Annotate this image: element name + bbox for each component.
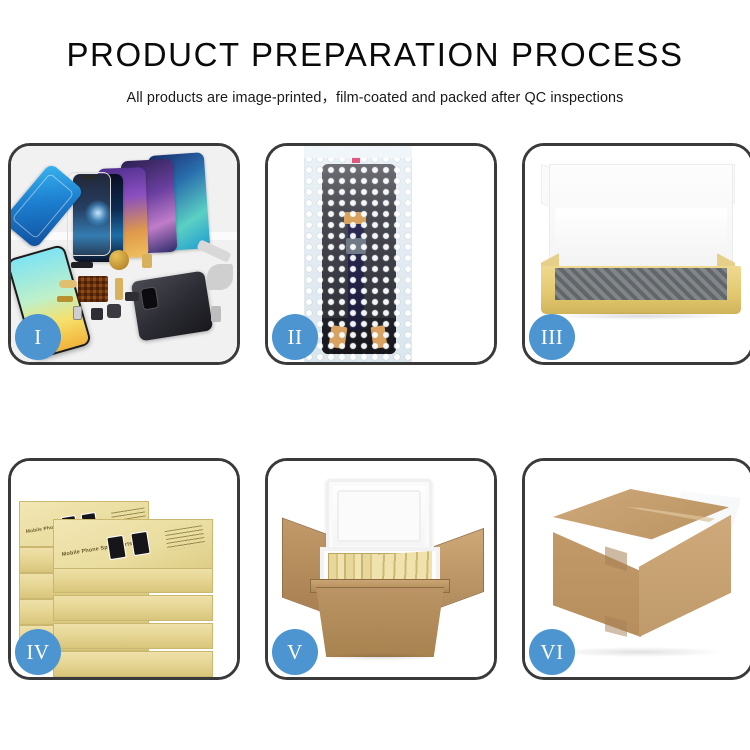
small-screw-part-icon — [73, 306, 82, 320]
step-badge-4: IV — [15, 629, 61, 675]
bubble-wrapped-contents-icon — [555, 268, 727, 300]
tweezers-icon — [196, 239, 231, 262]
box-art-screen-b1-icon — [106, 535, 126, 560]
vibration-motor-icon — [109, 250, 129, 270]
pry-tool-icon — [207, 264, 233, 290]
stacked-box-f4 — [53, 623, 213, 649]
stacked-box-f2 — [53, 567, 213, 593]
stacked-box-f3 — [53, 595, 213, 621]
bubble-wrap-bag-icon — [304, 146, 412, 362]
foam-box-lid-icon — [326, 479, 432, 553]
shipping-carton-icon — [545, 489, 737, 653]
sim-tray-icon — [125, 292, 139, 301]
bracket-part-icon — [91, 308, 103, 320]
shipping-carton-shadow — [555, 647, 723, 657]
process-step-6: VI — [522, 458, 750, 680]
step-badge-1: I — [15, 314, 61, 360]
gold-contact-icon — [57, 296, 73, 302]
product-preparation-process-page: PRODUCT PREPARATION PROCESS All products… — [0, 0, 750, 750]
logic-board-icon — [78, 276, 108, 302]
charging-flex-icon — [115, 278, 123, 300]
stacked-box-f5 — [53, 651, 213, 677]
carton-shadow — [320, 653, 440, 661]
page-header: PRODUCT PREPARATION PROCESS All products… — [0, 0, 750, 107]
process-step-5: V — [265, 458, 497, 680]
phone-back-cover-icon — [131, 271, 213, 342]
process-step-2: II — [265, 143, 497, 365]
step-badge-2: II — [272, 314, 318, 360]
stacked-box-f1-face: Mobile Phone Spare Parts — [54, 520, 212, 568]
foam-liner-icon — [555, 208, 727, 270]
process-step-grid: I — [8, 143, 742, 677]
step-badge-5: V — [272, 629, 318, 675]
process-step-4: Mobile Phone Spare Parts — [8, 458, 240, 680]
bubble-texture-icon — [305, 146, 411, 362]
process-step-1: I — [8, 143, 240, 365]
box-shadow — [549, 312, 733, 320]
bag-seal-icon — [304, 146, 412, 158]
carton-body-icon — [316, 587, 444, 657]
speaker-part-icon — [71, 262, 93, 268]
box-art-screen-b2-icon — [130, 531, 150, 556]
stacked-box-f1-top: Mobile Phone Spare Parts — [53, 519, 213, 569]
screwdriver-icon — [211, 306, 221, 322]
chip-part-icon — [107, 304, 121, 318]
process-step-3: III — [522, 143, 750, 365]
step-badge-6: VI — [529, 629, 575, 675]
page-title: PRODUCT PREPARATION PROCESS — [0, 0, 750, 71]
connector-part-icon — [59, 280, 77, 288]
page-subtitle: All products are image-printed，film-coat… — [0, 71, 750, 107]
flex-cable-part-icon — [142, 254, 152, 268]
camera-module-icon — [140, 286, 159, 310]
box-spec-lines-b-icon — [165, 525, 206, 551]
step-badge-3: III — [529, 314, 575, 360]
